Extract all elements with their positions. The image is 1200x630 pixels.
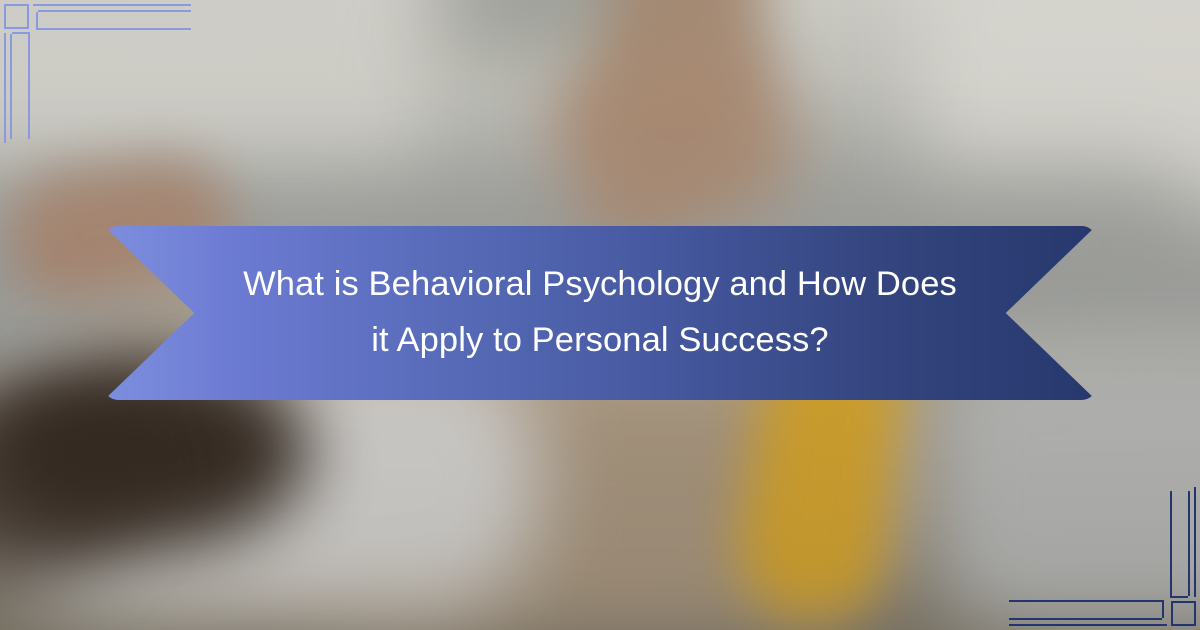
corner-square-top-left — [4, 4, 29, 29]
corner-rule — [1009, 624, 1167, 626]
corner-square-bottom-right — [1171, 601, 1196, 626]
corner-rule — [36, 28, 191, 30]
corner-rule — [38, 10, 191, 12]
corner-rule — [4, 33, 6, 143]
ribbon-banner: What is Behavioral Psychology and How Do… — [104, 226, 1096, 400]
corner-frame-top-left-icon — [0, 0, 190, 190]
corner-rule — [10, 34, 12, 139]
ribbon-content: What is Behavioral Psychology and How Do… — [104, 257, 1096, 369]
corner-rule — [1188, 491, 1190, 596]
banner-canvas: What is Behavioral Psychology and How Do… — [0, 0, 1200, 630]
corner-frame-bottom-right-icon — [1010, 440, 1200, 630]
page-title: What is Behavioral Psychology and How Do… — [164, 257, 1036, 369]
corner-rule — [1194, 487, 1196, 597]
corner-rule — [1170, 491, 1172, 596]
corner-rule — [1162, 600, 1164, 618]
corner-rule — [33, 4, 191, 6]
corner-rule — [1170, 596, 1188, 598]
corner-rule — [1009, 600, 1164, 602]
corner-rule — [28, 34, 30, 139]
corner-rule — [1009, 618, 1162, 620]
